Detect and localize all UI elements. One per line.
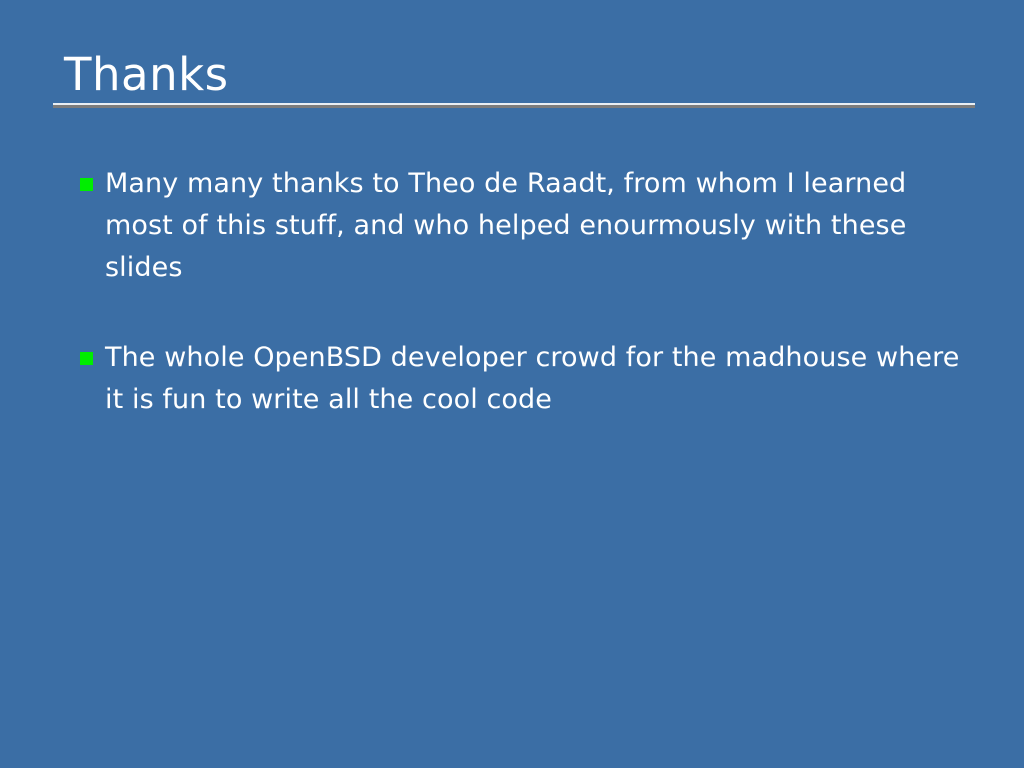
divider-shadow-line	[53, 105, 975, 108]
square-bullet-icon	[80, 352, 93, 365]
bullet-list: Many many thanks to Theo de Raadt, from …	[80, 163, 960, 421]
bullet-text: Many many thanks to Theo de Raadt, from …	[105, 163, 960, 289]
bullet-text: The whole OpenBSD developer crowd for th…	[105, 337, 960, 421]
square-bullet-icon	[80, 178, 93, 191]
page-title: Thanks	[64, 48, 229, 102]
presentation-slide: Thanks Many many thanks to Theo de Raadt…	[0, 0, 1024, 768]
list-item: The whole OpenBSD developer crowd for th…	[80, 337, 960, 421]
list-item: Many many thanks to Theo de Raadt, from …	[80, 163, 960, 289]
title-divider	[53, 103, 975, 108]
